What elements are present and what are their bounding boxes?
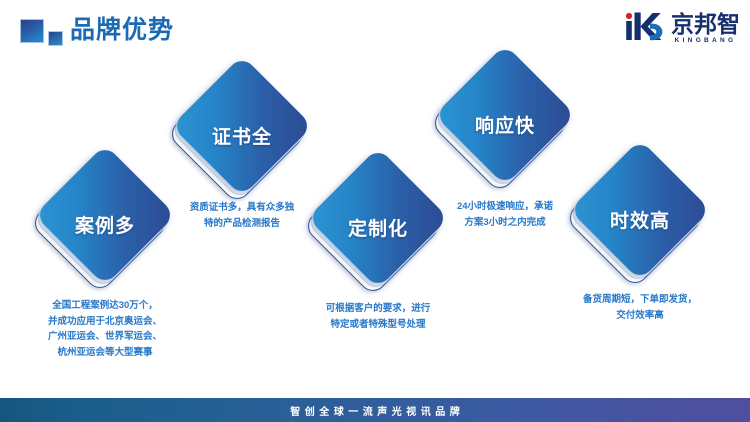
diamond-face-3 <box>307 147 448 288</box>
footer-slogan: 智创全球一流声光视讯品牌 <box>286 403 465 418</box>
caption-line: 交付效率高 <box>583 308 697 324</box>
diamond-shape-2: 证书全 <box>183 76 301 194</box>
caption-line: 并成功应用于北京奥运会、 <box>48 314 162 330</box>
caption-line: 方案3小时之内完成 <box>457 215 553 231</box>
diamond-face-2 <box>171 55 312 196</box>
caption-line: 备货周期短，下单即发货， <box>583 292 697 308</box>
feature-caption-2: 资质证书多，具有众多独 特的产品检测报告 <box>190 200 295 231</box>
caption-line: 特的产品检测报告 <box>190 216 295 232</box>
slide-root: 品牌优势 京邦智 KINGBANG 案例多 <box>0 0 750 422</box>
logo-wordmark: 京邦智 KINGBANG <box>668 13 740 45</box>
slide-footer: 智创全球一流声光视讯品牌 <box>0 398 750 422</box>
feature-caption-3: 可根据客户的要求，进行 特定或者特殊型号处理 <box>326 301 431 332</box>
feature-caption-1: 全国工程案例达30万个， 并成功应用于北京奥运会、 广州亚运会、世界军运会、 杭… <box>48 298 162 360</box>
caption-line: 资质证书多，具有众多独 <box>190 200 295 216</box>
feature-caption-4: 24小时极速响应，承诺 方案3小时之内完成 <box>457 199 553 230</box>
caption-line: 杭州亚运会等大型赛事 <box>48 345 162 361</box>
page-title: 品牌优势 <box>70 14 174 46</box>
logo-name-en: KINGBANG <box>671 37 740 45</box>
slide-header: 品牌优势 京邦智 KINGBANG <box>0 0 750 58</box>
brand-logo: 京邦智 KINGBANG <box>622 12 740 46</box>
caption-line: 广州亚运会、世界军运会、 <box>48 329 162 345</box>
logo-kb-icon <box>622 12 668 47</box>
diamond-shape-5: 时效高 <box>581 160 699 278</box>
diamond-face-4 <box>434 44 575 185</box>
decor-square-large-icon <box>20 19 44 43</box>
decor-square-small-icon <box>48 31 63 46</box>
caption-line: 全国工程案例达30万个， <box>48 298 162 314</box>
logo-name-cn: 京邦智 <box>671 13 740 36</box>
diamond-shape-4: 响应快 <box>446 65 564 183</box>
title-decoration <box>20 19 70 47</box>
feature-caption-5: 备货周期短，下单即发货， 交付效率高 <box>583 292 697 323</box>
diamond-face-5 <box>569 139 710 280</box>
diamond-face-1 <box>34 144 175 285</box>
caption-line: 可根据客户的要求，进行 <box>326 301 431 317</box>
caption-line: 24小时极速响应，承诺 <box>457 199 553 215</box>
diamond-shape-1: 案例多 <box>46 165 164 283</box>
caption-line: 特定或者特殊型号处理 <box>326 317 431 333</box>
diamond-shape-3: 定制化 <box>319 168 437 286</box>
